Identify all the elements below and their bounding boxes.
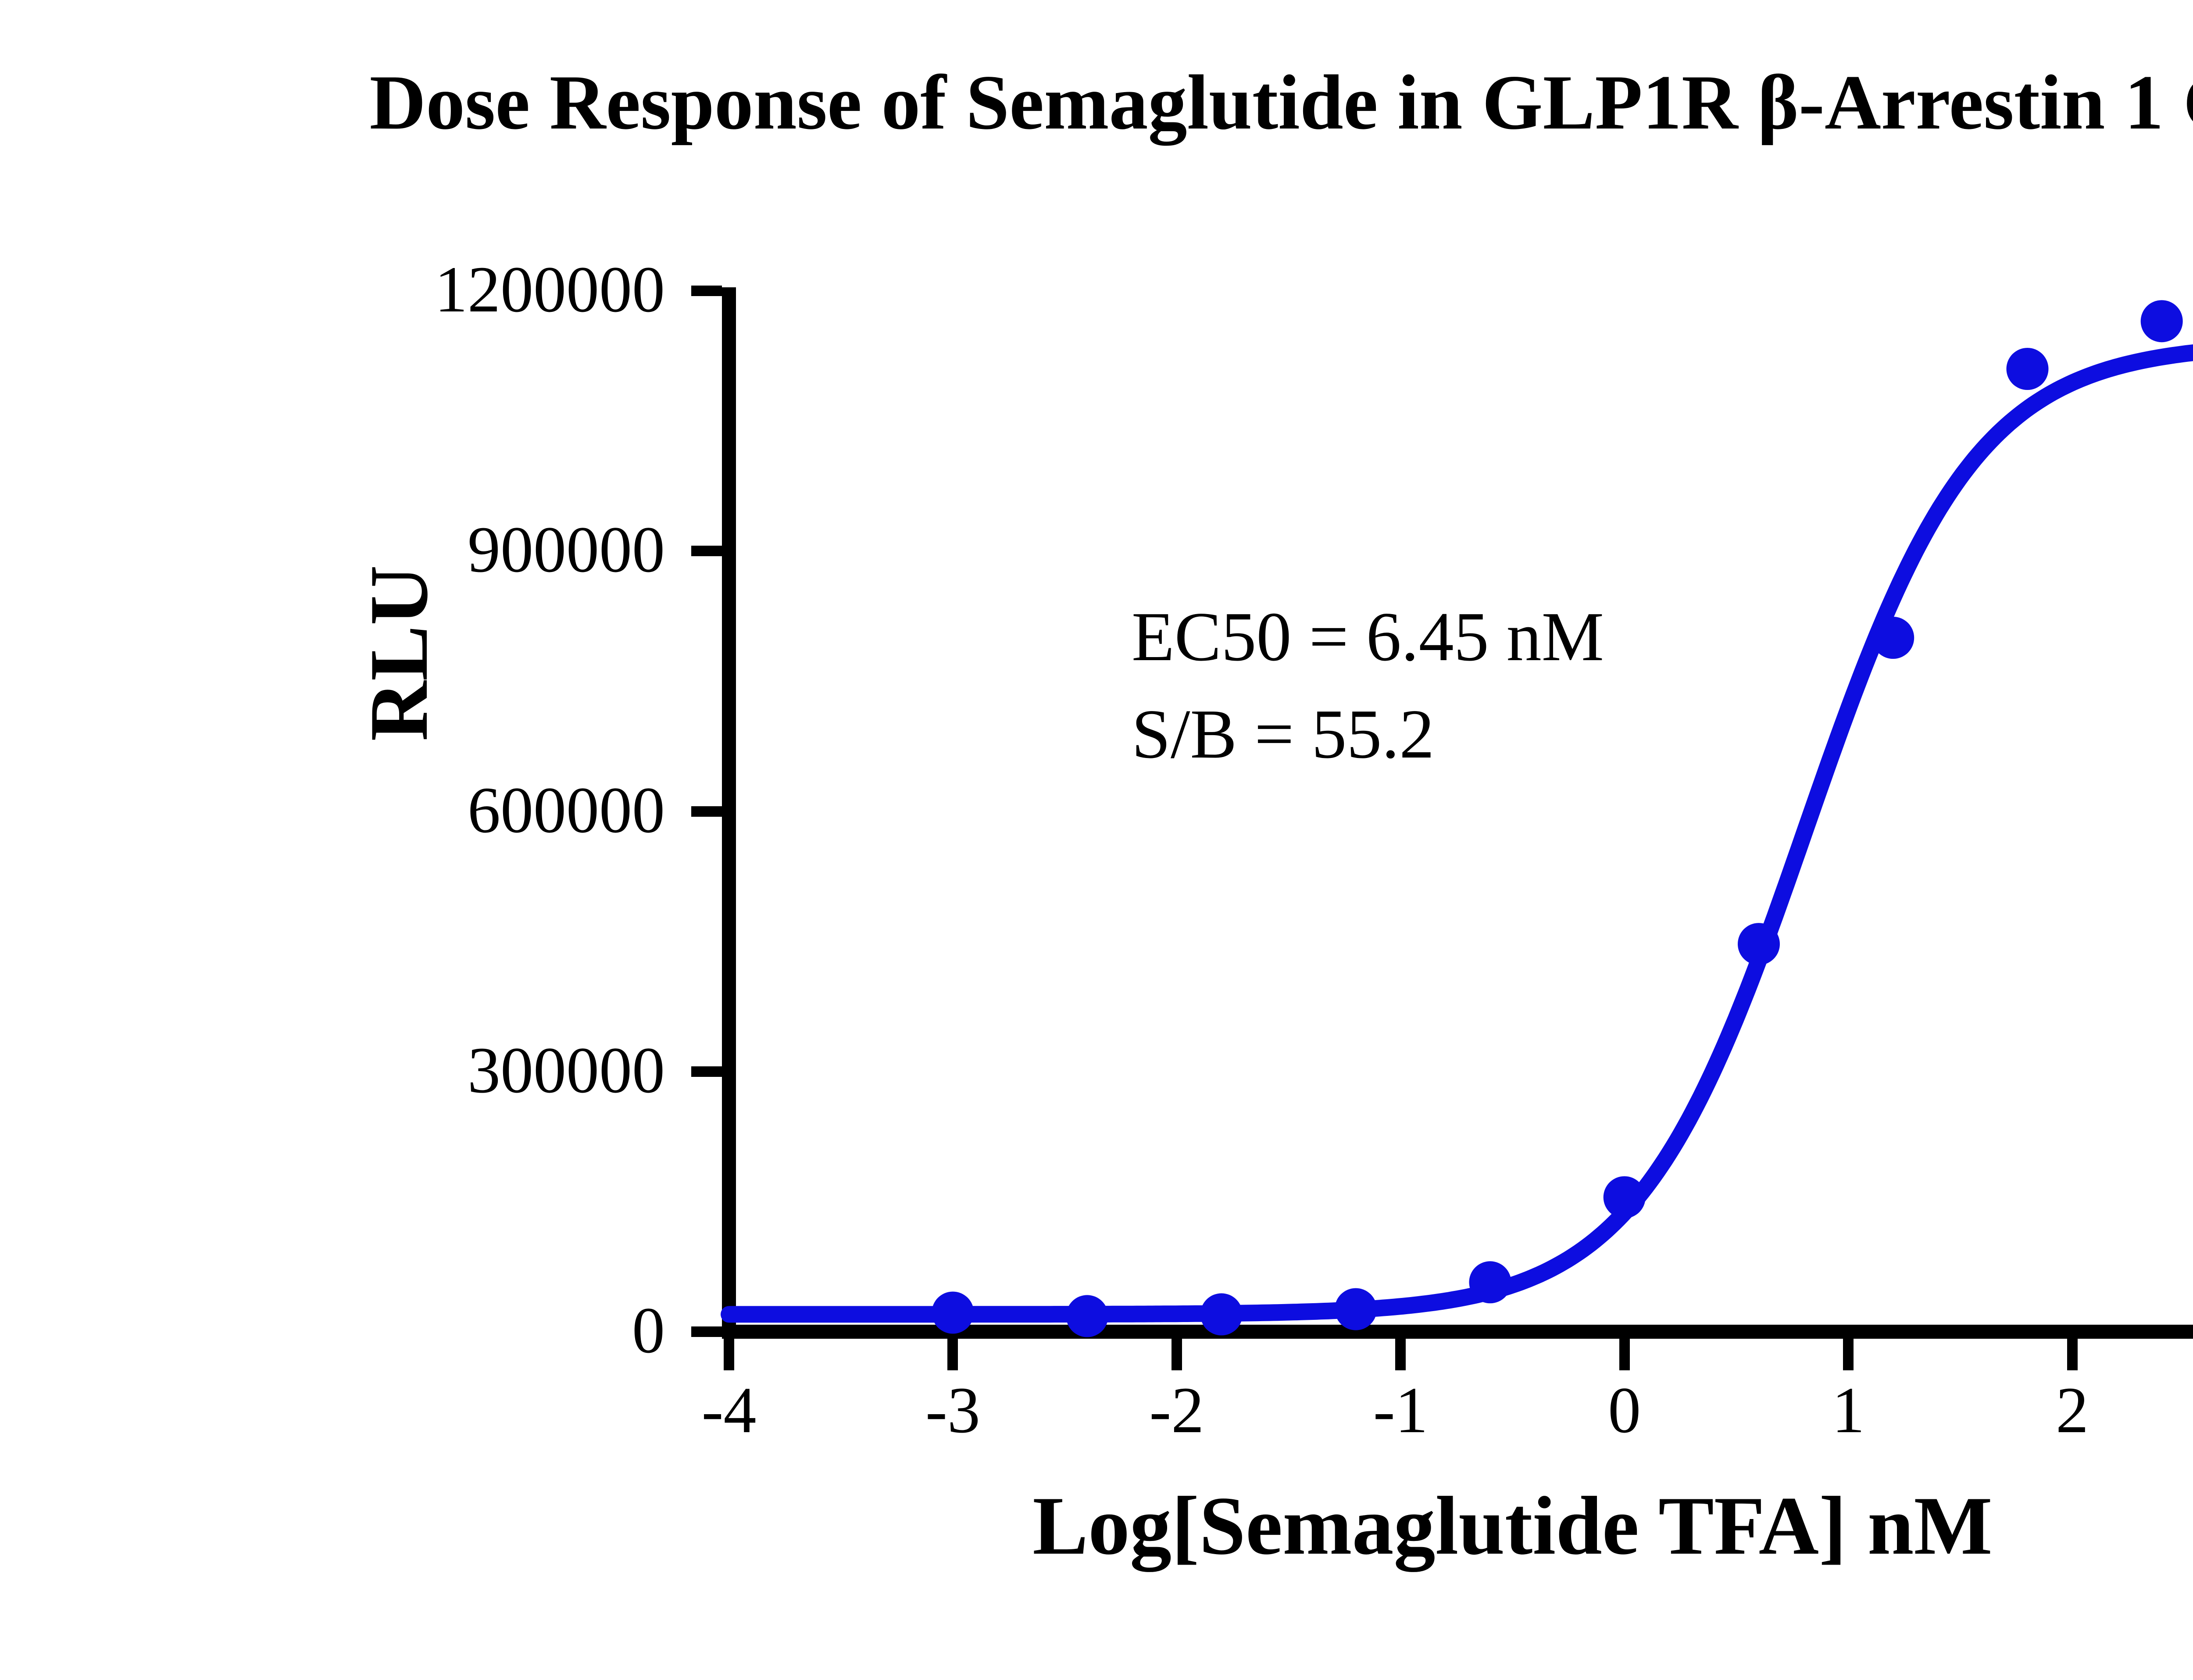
data-point: [2007, 348, 2049, 390]
y-tick-label: 600000: [279, 777, 665, 843]
data-point: [2141, 300, 2183, 342]
data-point: [1604, 1176, 1646, 1219]
x-tick-label: 1: [1791, 1377, 1905, 1443]
y-tick-label: 0: [279, 1298, 665, 1363]
y-axis-tick: [691, 546, 722, 556]
data-point-markers: [932, 300, 2193, 1337]
dose-response-curve: [729, 346, 2193, 1314]
y-axis-line: [722, 287, 736, 1339]
x-axis-tick: [2067, 1339, 2078, 1370]
y-axis-tick: [691, 1066, 722, 1077]
y-tick-label: 1200000: [279, 257, 665, 322]
sb-annotation: S/B = 55.2: [1132, 685, 1604, 783]
x-axis-tick: [1172, 1339, 1182, 1370]
y-axis-title: RLU: [351, 465, 447, 842]
x-axis-tick: [1843, 1339, 1854, 1370]
data-point: [1872, 617, 1914, 659]
data-point: [1469, 1261, 1511, 1303]
x-axis-title: Log[Semaglutide TFA] nM: [729, 1478, 2193, 1574]
x-tick-label: -4: [672, 1377, 786, 1443]
data-point: [1738, 923, 1780, 965]
x-tick-label: -3: [896, 1377, 1010, 1443]
x-axis-tick: [1395, 1339, 1406, 1370]
y-axis-tick: [691, 286, 722, 296]
chart-title: Dose Response of Semaglutide in GLP1R β-…: [0, 61, 2193, 143]
y-axis-tick: [691, 1326, 722, 1337]
ec50-annotation: EC50 = 6.45 nM: [1132, 588, 1604, 685]
y-tick-label: 300000: [279, 1037, 665, 1103]
y-tick-label: 900000: [279, 517, 665, 583]
x-tick-label: -1: [1343, 1377, 1457, 1443]
x-axis-tick: [724, 1339, 734, 1370]
chart-figure: Dose Response of Semaglutide in GLP1R β-…: [0, 0, 2193, 1680]
data-point: [1335, 1288, 1377, 1330]
x-axis-tick: [1619, 1339, 1630, 1370]
chart-annotation: EC50 = 6.45 nM S/B = 55.2: [1132, 588, 1604, 783]
x-tick-label: -2: [1120, 1377, 1234, 1443]
x-tick-label: 2: [2015, 1377, 2129, 1443]
x-axis-line: [722, 1325, 2193, 1339]
y-axis-tick: [691, 806, 722, 817]
x-axis-tick: [947, 1339, 958, 1370]
x-tick-label: 0: [1568, 1377, 1682, 1443]
